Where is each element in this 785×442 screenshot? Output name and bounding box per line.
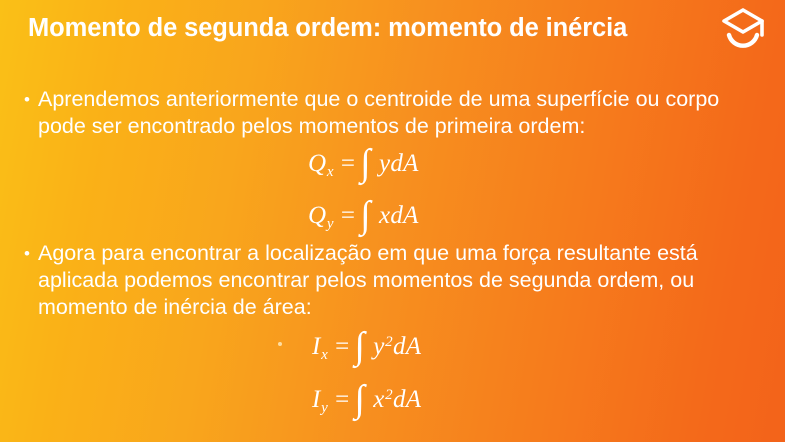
formula-iy-lhs: I xyxy=(312,386,321,413)
formula-qx-equals: = xyxy=(334,150,360,177)
formula-iy: Iy=∫x2dA xyxy=(312,386,421,417)
formula-ix-equals: = xyxy=(328,333,354,360)
formula-qx-subscript: x xyxy=(326,164,333,180)
formula-qy-lhs: Q xyxy=(308,202,326,229)
integral-sign-icon: ∫ xyxy=(355,378,374,420)
formula-ix: Ix=∫y2dA xyxy=(312,333,421,364)
bullet-marker: • xyxy=(24,86,38,113)
formula-qx: Qx=∫ydA xyxy=(308,150,419,181)
formula-ix-integrand-var: y xyxy=(373,333,384,360)
list-item: • Aprendemos anteriormente que o centroi… xyxy=(24,86,764,140)
formula-qy-equals: = xyxy=(334,202,360,229)
list-item: • Agora para encontrar a localização em … xyxy=(24,240,764,321)
slide: Momento de segunda ordem: momento de iné… xyxy=(0,0,785,442)
bullet-marker: • xyxy=(24,240,38,267)
formula-iy-integrand-var: x xyxy=(373,386,384,413)
formula-qy-integrand: xdA xyxy=(379,202,419,229)
formula-qx-lhs: Q xyxy=(308,150,326,177)
formula-ix-exponent: 2 xyxy=(385,334,393,350)
bullet-text: Aprendemos anteriormente que o centroide… xyxy=(38,86,764,140)
formula-iy-exponent: 2 xyxy=(385,387,393,403)
slide-body: • Aprendemos anteriormente que o centroi… xyxy=(0,58,785,442)
formula-ix-integrand-tail: dA xyxy=(393,333,421,360)
formula-iy-equals: = xyxy=(328,386,354,413)
bullet-text: Agora para encontrar a localização em qu… xyxy=(38,240,764,321)
formula-iy-subscript: y xyxy=(321,400,328,416)
integral-sign-icon: ∫ xyxy=(360,142,379,184)
formula-ix-subscript: x xyxy=(321,347,328,363)
slide-header: Momento de segunda ordem: momento de iné… xyxy=(0,0,785,58)
graduation-cap-icon xyxy=(717,4,769,54)
integral-sign-icon: ∫ xyxy=(360,194,379,236)
formula-iy-integrand-tail: dA xyxy=(393,386,421,413)
formula-qy: Qy=∫xdA xyxy=(308,202,419,233)
page-title: Momento de segunda ordem: momento de iné… xyxy=(28,12,688,44)
formula-qy-subscript: y xyxy=(326,216,333,232)
formula-ix-lhs: I xyxy=(312,333,321,360)
decorative-bullet-dot xyxy=(278,342,282,346)
formula-qx-integrand: ydA xyxy=(379,150,419,177)
integral-sign-icon: ∫ xyxy=(355,325,374,367)
